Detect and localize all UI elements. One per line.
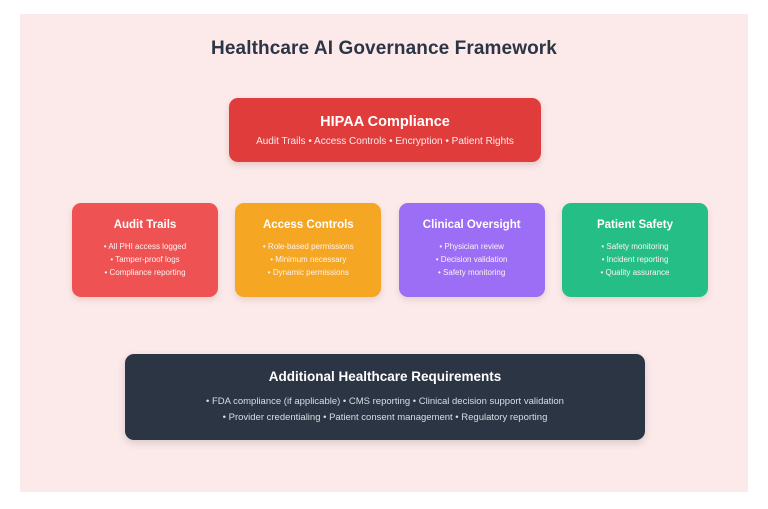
- framework-panel: Healthcare AI Governance Framework HIPAA…: [20, 14, 748, 492]
- pillar-card-item: • Tamper-proof logs: [110, 253, 179, 266]
- hipaa-card-title: HIPAA Compliance: [320, 114, 450, 130]
- hipaa-compliance-card: HIPAA Compliance Audit Trails • Access C…: [229, 98, 541, 162]
- pillar-card-item: • Dynamic permissions: [268, 266, 349, 279]
- pillar-card-item: • Physician review: [439, 240, 504, 253]
- hipaa-card-subtitle: Audit Trails • Access Controls • Encrypt…: [256, 136, 514, 147]
- pillar-card-audit-trails: Audit Trails • All PHI access logged • T…: [72, 203, 218, 297]
- pillar-card-access-controls: Access Controls • Role-based permissions…: [235, 203, 381, 297]
- additional-requirements-line: • Provider credentialing • Patient conse…: [223, 410, 548, 426]
- pillar-card-item: • Quality assurance: [600, 266, 669, 279]
- pillar-card-title: Access Controls: [263, 219, 354, 231]
- pillar-card-item: • Safety monitoring: [601, 240, 668, 253]
- additional-requirements-card: Additional Healthcare Requirements • FDA…: [125, 354, 645, 440]
- pillar-card-clinical-oversight: Clinical Oversight • Physician review • …: [399, 203, 545, 297]
- pillar-card-title: Audit Trails: [114, 219, 177, 231]
- page-title: Healthcare AI Governance Framework: [20, 38, 748, 60]
- pillar-card-item: • Incident reporting: [602, 253, 669, 266]
- pillar-card-item: • Compliance reporting: [104, 266, 185, 279]
- pillar-card-row: Audit Trails • All PHI access logged • T…: [72, 203, 708, 297]
- pillar-card-title: Patient Safety: [597, 219, 673, 231]
- additional-requirements-line: • FDA compliance (if applicable) • CMS r…: [206, 394, 564, 410]
- pillar-card-item: • Safety monitoring: [438, 266, 505, 279]
- pillar-card-item: • All PHI access logged: [104, 240, 186, 253]
- pillar-card-item: • Minimum necessary: [270, 253, 346, 266]
- pillar-card-item: • Decision validation: [436, 253, 508, 266]
- pillar-card-title: Clinical Oversight: [423, 219, 521, 231]
- additional-requirements-title: Additional Healthcare Requirements: [269, 369, 502, 384]
- pillar-card-item: • Role-based permissions: [263, 240, 354, 253]
- pillar-card-patient-safety: Patient Safety • Safety monitoring • Inc…: [562, 203, 708, 297]
